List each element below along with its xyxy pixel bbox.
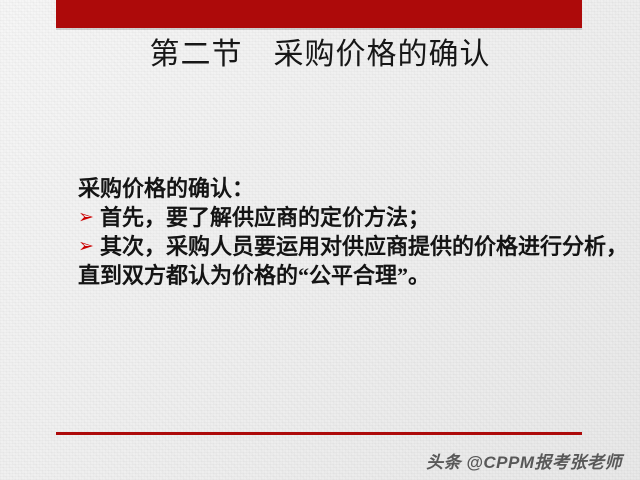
top-accent-bar-shadow xyxy=(56,28,582,30)
slide-canvas: 第二节 采购价格的确认 采购价格的确认： ➢首先，要了解供应商的定价方法； ➢其… xyxy=(0,0,640,480)
top-accent-bar xyxy=(56,0,582,28)
slide-body: 采购价格的确认： ➢首先，要了解供应商的定价方法； ➢其次，采购人员要运用对供应… xyxy=(45,145,605,261)
body-line-text: 首先，要了解供应商的定价方法； xyxy=(100,205,430,230)
body-line-text: 其次，采购人员要运用对供应商提供的价格进行分析， xyxy=(100,234,628,259)
body-line: 采购价格的确认： xyxy=(45,145,605,174)
arrow-bullet-icon: ➢ xyxy=(78,203,100,232)
body-line-text: 直到双方都认为价格的“公平合理”。 xyxy=(78,263,430,288)
watermark-label: 头条 @CPPM报考张老师 xyxy=(426,448,622,473)
bottom-accent-rule xyxy=(56,432,582,435)
body-line-text: 采购价格的确认： xyxy=(78,176,254,201)
arrow-bullet-icon: ➢ xyxy=(78,232,100,261)
slide-title: 第二节 采购价格的确认 xyxy=(0,36,640,74)
